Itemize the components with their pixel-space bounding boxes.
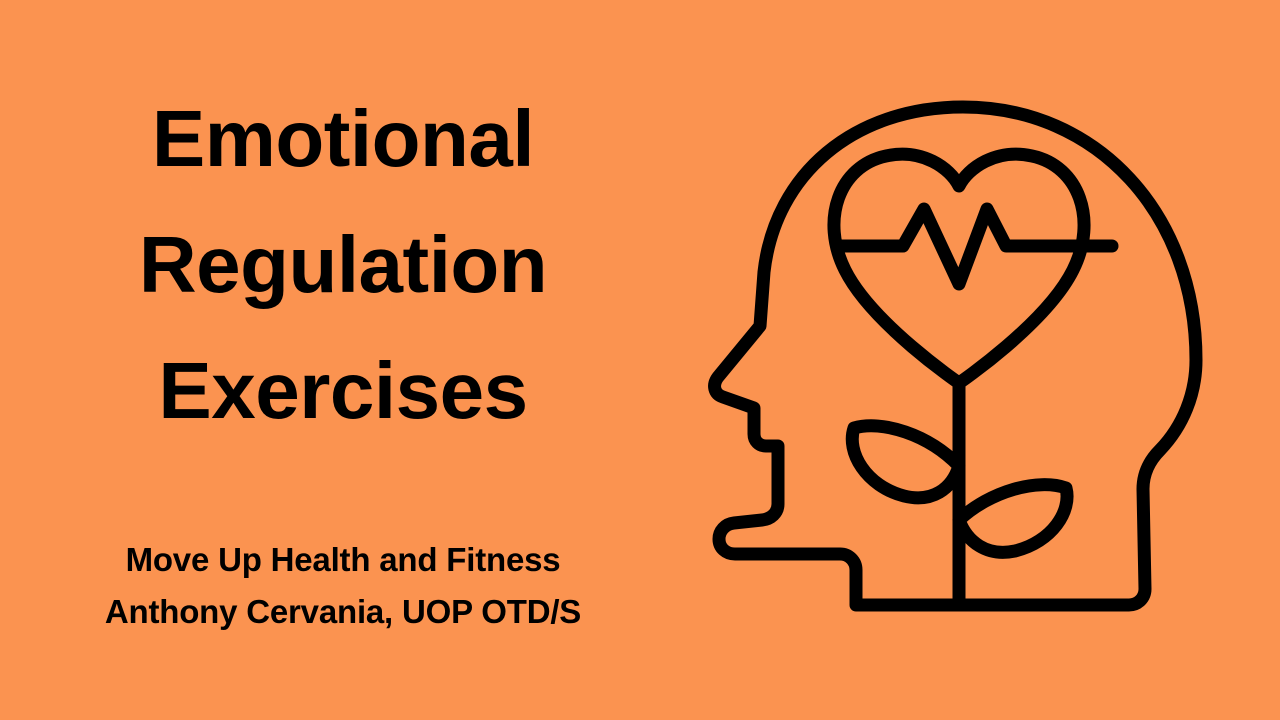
- text-column: Emotional Regulation Exercises Move Up H…: [0, 0, 686, 720]
- title-line-3: Exercises: [0, 328, 686, 454]
- leaf-upper-left: [852, 426, 959, 498]
- page-title: Emotional Regulation Exercises: [0, 76, 686, 454]
- title-line-1: Emotional: [0, 76, 686, 202]
- head-profile-with-heart-flower-icon: [660, 34, 1260, 674]
- illustration-area: [660, 34, 1260, 674]
- title-line-2: Regulation: [0, 202, 686, 328]
- subtitle-organization: Move Up Health and Fitness: [0, 534, 686, 586]
- ecg-heartbeat-line: [875, 209, 1045, 284]
- leaf-lower-right: [959, 485, 1067, 553]
- subtitle-author: Anthony Cervania, UOP OTD/S: [0, 586, 686, 638]
- slide-canvas: Emotional Regulation Exercises Move Up H…: [0, 0, 1280, 720]
- subtitle: Move Up Health and Fitness Anthony Cerva…: [0, 534, 686, 638]
